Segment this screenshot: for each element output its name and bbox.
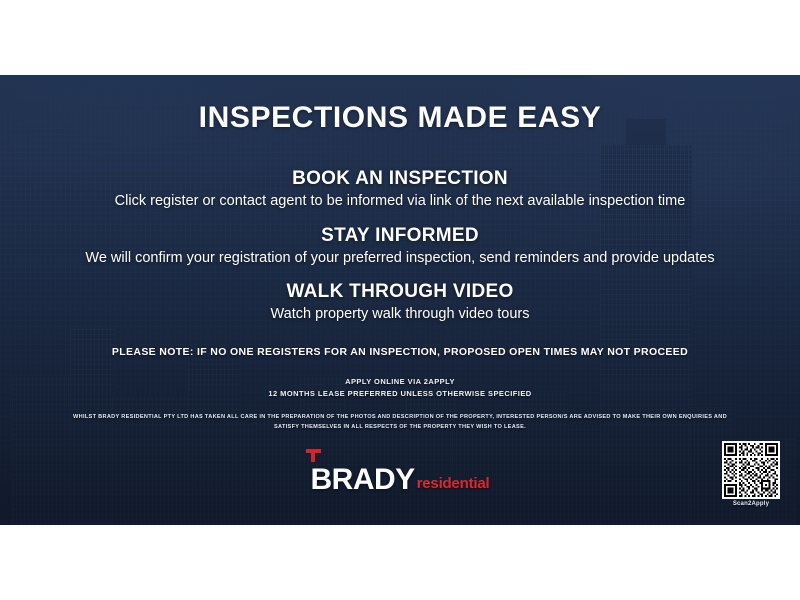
- qr-code-svg: [724, 443, 778, 497]
- slide-content: INSPECTIONS MADE EASY BOOK AN INSPECTION…: [0, 75, 800, 525]
- lease-term-line: 12 MONTHS LEASE PREFERRED UNLESS OTHERWI…: [0, 388, 800, 400]
- qr-code-icon[interactable]: [722, 441, 780, 499]
- screenshot-canvas: INSPECTIONS MADE EASY BOOK AN INSPECTION…: [0, 0, 800, 600]
- brady-residential-logo: BRADY residential: [0, 463, 800, 497]
- qr-caption: Scan2Apply: [720, 501, 782, 507]
- page-title: INSPECTIONS MADE EASY: [0, 101, 800, 135]
- section-heading: STAY INFORMED: [0, 225, 800, 247]
- section-book-an-inspection: BOOK AN INSPECTION Click register or con…: [0, 168, 800, 209]
- section-body: Click register or contact agent to be in…: [0, 193, 800, 209]
- apply-info: APPLY ONLINE VIA 2APPLY 12 MONTHS LEASE …: [0, 376, 800, 399]
- logo-t-mark-icon: [306, 449, 321, 462]
- section-walk-through-video: WALK THROUGH VIDEO Watch property walk t…: [0, 281, 800, 322]
- section-stay-informed: STAY INFORMED We will confirm your regis…: [0, 225, 800, 266]
- inspection-slide: INSPECTIONS MADE EASY BOOK AN INSPECTION…: [0, 75, 800, 525]
- section-body: We will confirm your registration of you…: [0, 250, 800, 266]
- please-note-text: PLEASE NOTE: IF NO ONE REGISTERS FOR AN …: [0, 346, 800, 358]
- section-body: Watch property walk through video tours: [0, 306, 800, 322]
- scan2apply-qr-block[interactable]: Scan2Apply: [720, 441, 782, 507]
- section-heading: WALK THROUGH VIDEO: [0, 281, 800, 303]
- logo-suffix: residential: [417, 475, 490, 492]
- section-heading: BOOK AN INSPECTION: [0, 168, 800, 190]
- legal-disclaimer: WHILST BRADY RESIDENTIAL PTY LTD HAS TAK…: [70, 412, 730, 433]
- logo-name: BRADY: [310, 463, 414, 497]
- apply-online-line: APPLY ONLINE VIA 2APPLY: [0, 376, 800, 388]
